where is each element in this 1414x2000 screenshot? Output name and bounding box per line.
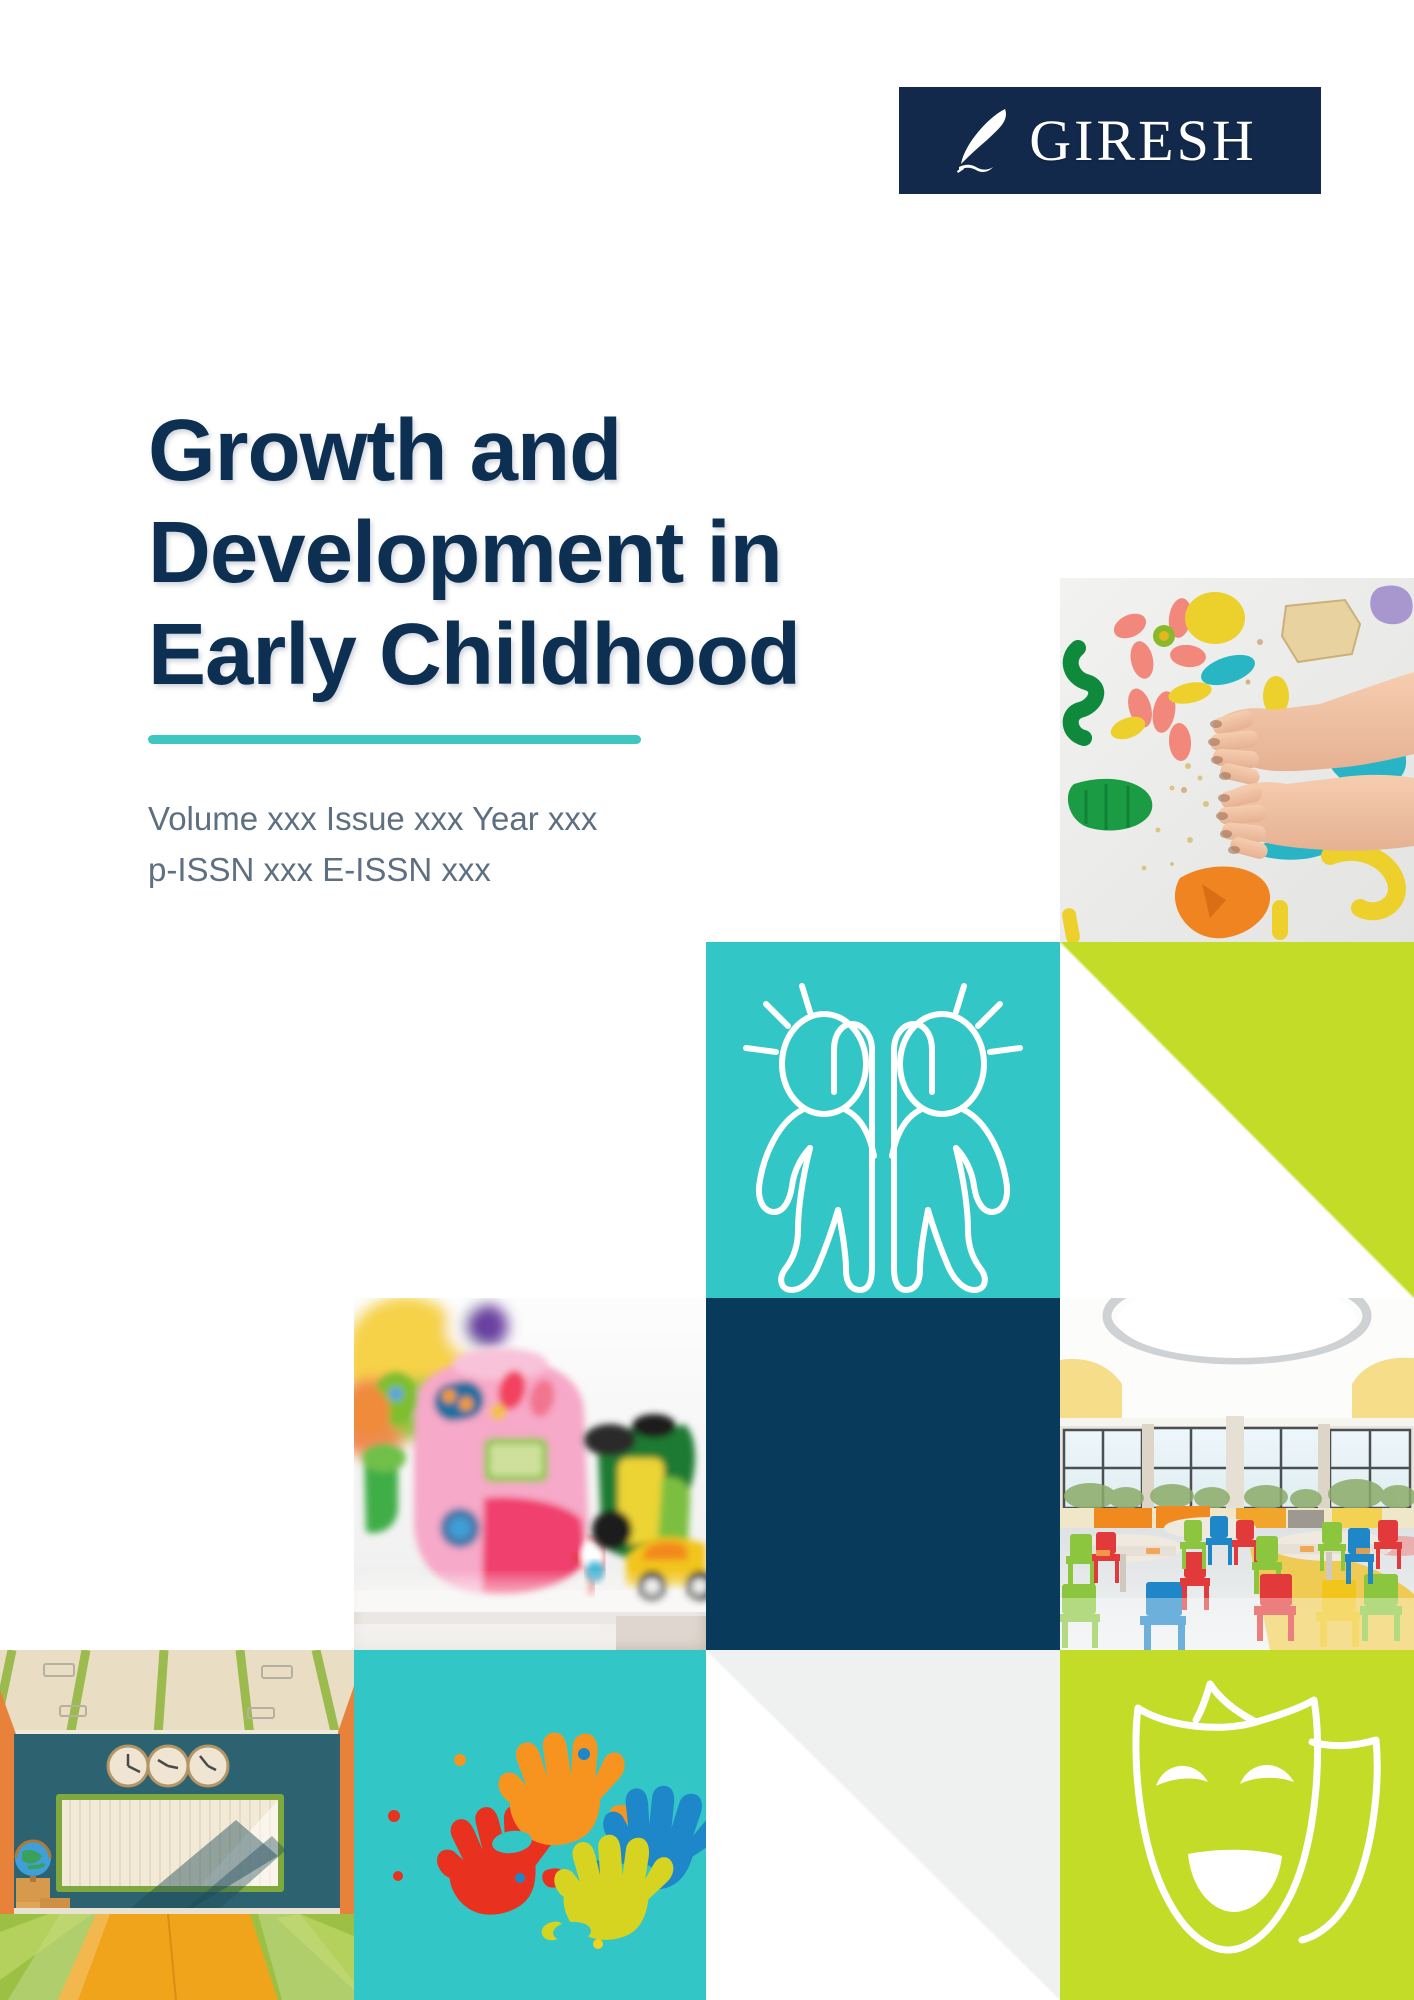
quill-pen-icon xyxy=(953,105,1013,177)
gray-triangle-panel xyxy=(706,1650,1060,2000)
volume-issue-year: Volume xxx Issue xxx Year xxx xyxy=(148,794,1008,844)
classroom-photo xyxy=(1060,1298,1414,1650)
page-title: Growth and Development in Early Childhoo… xyxy=(148,400,1008,705)
journal-cover: GIRESH Growth and Development in Early C… xyxy=(0,0,1414,2000)
theater-mask-icon xyxy=(1060,1650,1414,2000)
navy-block-panel xyxy=(706,1298,1060,1650)
handprints-icon-panel xyxy=(354,1650,706,2000)
highfive-icon-panel xyxy=(706,942,1060,1298)
lime-triangle-panel xyxy=(1060,942,1414,1298)
gray-triangle-shape xyxy=(706,1650,1060,2000)
issn-line: p-ISSN xxx E-ISSN xxx xyxy=(148,845,1008,895)
two-children-high-five-icon xyxy=(706,942,1060,1298)
title-line-2: Development in xyxy=(148,504,782,601)
toys-photo xyxy=(354,1298,706,1650)
lime-triangle-shape xyxy=(1060,942,1414,1298)
theater-mask-icon-panel xyxy=(1060,1650,1414,2000)
schoolroom-photo xyxy=(0,1650,354,2000)
title-line-3: Early Childhood xyxy=(148,606,800,703)
title-block: Growth and Development in Early Childhoo… xyxy=(148,400,1008,895)
publisher-name: GIRESH xyxy=(1029,112,1256,170)
title-line-1: Growth and xyxy=(148,402,621,499)
issue-metadata: Volume xxx Issue xxx Year xxx p-ISSN xxx… xyxy=(148,794,1008,894)
accent-rule xyxy=(148,735,641,744)
publisher-logo[interactable]: GIRESH xyxy=(899,87,1321,194)
playdough-photo xyxy=(1060,578,1414,942)
colored-handprints-icon xyxy=(354,1650,706,2000)
